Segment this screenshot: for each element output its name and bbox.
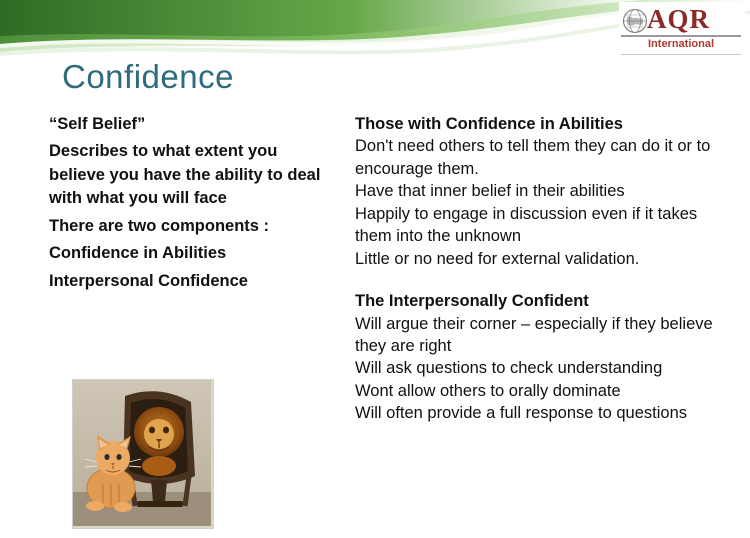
logo-divider — [621, 35, 741, 37]
right-content-column: Those with Confidence in Abilities Don't… — [355, 113, 720, 425]
logo-box: AQR International — [619, 2, 745, 64]
component-interpersonal-confidence: Interpersonal Confidence — [49, 270, 334, 293]
confidence-in-abilities-body: Don't need others to tell them they can … — [355, 135, 720, 270]
self-belief-text: “Self Belief” — [49, 113, 334, 136]
aqr-logo: AQR International — [619, 2, 745, 64]
interpersonally-confident-body: Will argue their corner – especially if … — [355, 313, 720, 425]
globe-icon — [622, 8, 648, 34]
interpersonally-confident-block: The Interpersonally Confident Will argue… — [355, 290, 720, 425]
kitten-mirror-image — [72, 379, 214, 529]
left-content-column: “Self Belief” Describes to what extent y… — [49, 113, 334, 297]
confidence-in-abilities-block: Those with Confidence in Abilities Don't… — [355, 113, 720, 270]
component-confidence-in-abilities: Confidence in Abilities — [49, 242, 334, 265]
interpersonally-confident-heading: The Interpersonally Confident — [355, 290, 720, 312]
page-title: Confidence — [62, 58, 234, 96]
slide: AQR International Confidence “Self Belie… — [0, 0, 750, 538]
confidence-in-abilities-heading: Those with Confidence in Abilities — [355, 113, 720, 135]
logo-subtitle: International — [648, 38, 714, 50]
logo-wordmark: AQR — [647, 4, 710, 35]
logo-divider-secondary — [621, 54, 741, 55]
describes-text: Describes to what extent you believe you… — [49, 140, 334, 210]
two-components-heading: There are two components : — [49, 215, 334, 238]
